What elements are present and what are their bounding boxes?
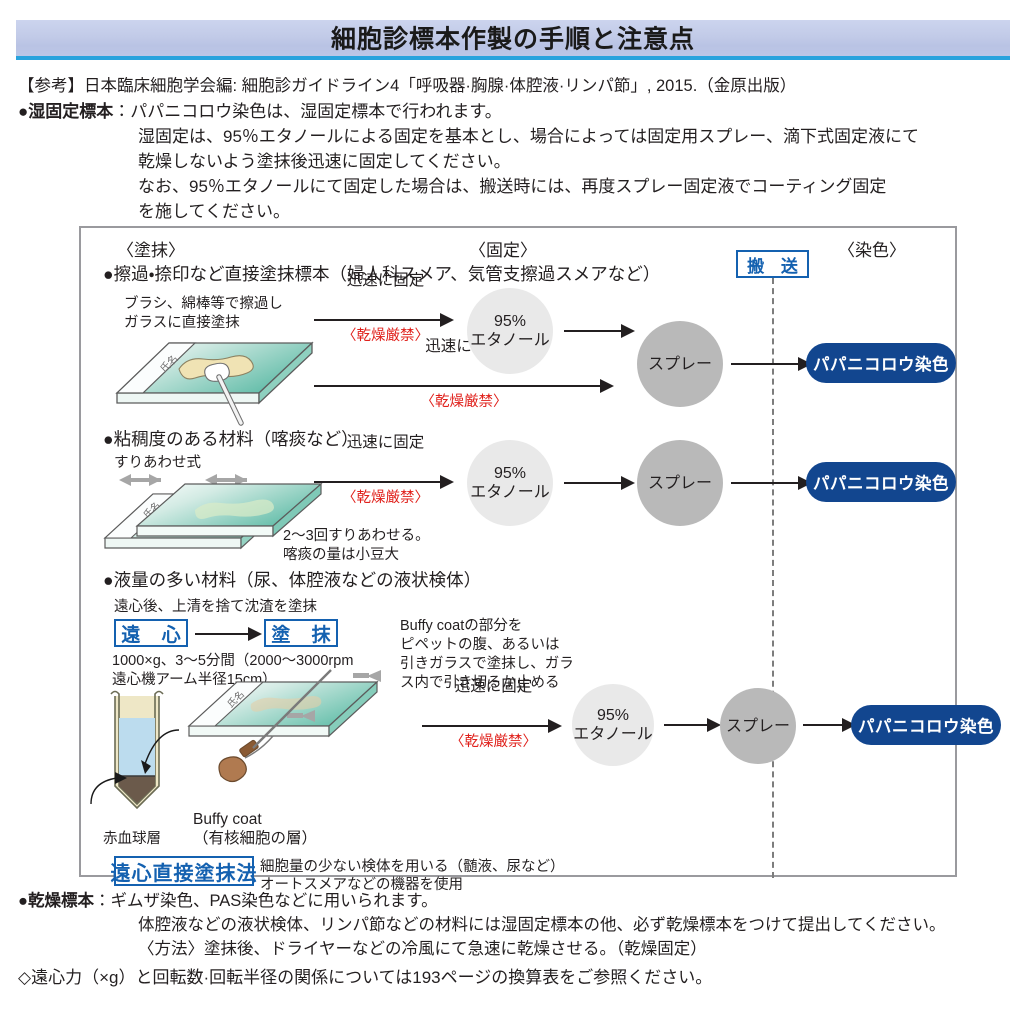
row-3-ethanol-line-1: 95%: [573, 706, 653, 725]
method-note-line-1: 細胞量の少ない検体を用いる（髄液、尿など）: [260, 858, 565, 877]
wet-specimen-text-1: パパニコロウ染色は、湿固定標本で行われます。: [130, 102, 501, 121]
row-3-buffy-label: Buffy coat （有核細胞の層）: [193, 810, 317, 848]
row-1-caption-line-1: ブラシ、綿棒等で擦過し: [124, 295, 283, 314]
row-1-spray-to-stain-arrow: [731, 363, 799, 365]
row-3-rbc-label: 赤血球層: [103, 830, 161, 849]
column-header-smear: 〈塗抹〉: [117, 236, 185, 261]
row-1-spray-circle: スプレー: [637, 321, 723, 407]
row-3-arrow-caution: 〈乾燥厳禁〉: [422, 730, 565, 751]
row-3-stain-pill: パパニコロウ染色: [851, 705, 1001, 745]
document-page: 細胞診標本作製の手順と注意点 【参考】日本臨床細胞学会編: 細胞診ガイドライン4…: [0, 0, 1031, 1010]
row-1-slide-illustration: 氏名: [107, 331, 327, 431]
dry-specimen-text-1: ギムザ染色、PAS染色などに用いられます。: [110, 892, 437, 910]
wet-specimen-line-1: ●湿固定標本：パパニコロウ染色は、湿固定標本で行われます。: [18, 99, 919, 124]
row-2-ethanol-line-2: エタノール: [470, 483, 550, 502]
page-title: 細胞診標本作製の手順と注意点: [16, 19, 1010, 55]
centrifuge-to-smear-arrow: [195, 633, 249, 635]
wet-specimen-line-5: を施してください。: [18, 199, 919, 224]
row-3-spray-circle: スプレー: [720, 688, 796, 764]
row-1-ethanol-to-spray-arrow: [564, 330, 622, 332]
dry-specimen-label: 乾燥標本: [28, 892, 94, 910]
row-3-arrow-label: 迅速に固定: [422, 674, 565, 696]
row-3-buffy-line-1: Buffy coatの部分を: [400, 617, 522, 636]
column-header-fixation: 〈固定〉: [469, 236, 537, 261]
reference-line: 【参考】日本臨床細胞学会編: 細胞診ガイドライン4「呼吸器·胸腺·体腔液·リンパ…: [18, 72, 796, 96]
centrifuge-box: 遠 心: [114, 619, 188, 647]
row-3-ethanol-to-spray-arrow: [664, 724, 708, 726]
row-1-ethanol-line-2: エタノール: [470, 331, 550, 350]
dry-specimen-block: ●乾燥標本：ギムザ染色、PAS染色などに用いられます。 体腔液などの液状検体、リ…: [18, 889, 946, 961]
dry-specimen-line-1: ●乾燥標本：ギムザ染色、PAS染色などに用いられます。: [18, 889, 946, 913]
footnote: ◇遠心力（×g）と回転数·回転半径の関係については193ページの換算表をご参照く…: [18, 963, 712, 988]
row-1-lower-arrow-label: 迅速に固定: [314, 334, 614, 356]
row-2-note-line-1: 2〜3回すりあわせる。: [283, 527, 430, 546]
row-3-buffy-line-3: 引きガラスで塗抹し、ガラ: [400, 655, 574, 674]
wet-specimen-line-2: 湿固定は、95％エタノールによる固定を基本とし、場合によっては固定用スプレー、滴…: [18, 124, 919, 149]
row-2-stain-pill: パパニコロウ染色: [806, 462, 956, 502]
row-2-ethanol-line-1: 95%: [470, 464, 550, 483]
wet-specimen-line-4: なお、95％エタノールにて固定した場合は、搬送時には、再度スプレー固定液でコーテ…: [18, 174, 919, 199]
wet-specimen-label: 湿固定標本: [28, 102, 113, 121]
smear-box: 塗 抹: [264, 619, 338, 647]
transport-box: 搬 送: [736, 250, 809, 278]
wet-specimen-line-3: 乾燥しないよう塗抹後迅速に固定してください。: [18, 149, 919, 174]
row-3-caption-line-1: 遠心後、上清を捨て沈渣を塗抹: [114, 598, 317, 617]
dry-specimen-colon: ：: [94, 892, 111, 910]
column-header-staining: 〈染色〉: [838, 236, 906, 261]
page-title-bar: 細胞診標本作製の手順と注意点: [16, 20, 1010, 60]
row-3-ethanol-circle: 95% エタノール: [572, 684, 654, 766]
dry-specimen-line-2: 体腔液などの液状検体、リンパ節などの材料には湿固定標本の他、必ず乾燥標本をつけて…: [18, 913, 946, 937]
row-3-buffy-label-line-1: Buffy coat: [193, 810, 317, 829]
wet-specimen-bullet: ●: [18, 102, 28, 121]
row-2-ethanol-to-spray-arrow: [564, 482, 622, 484]
direct-smear-method-box: 遠心直接塗抹法: [114, 856, 254, 886]
row-3-buffy-label-line-2: （有核細胞の層）: [193, 829, 317, 848]
wet-specimen-block: ●湿固定標本：パパニコロウ染色は、湿固定標本で行われます。 湿固定は、95％エタ…: [18, 99, 919, 224]
row-1-ethanol-line-1: 95%: [470, 312, 550, 331]
transport-divider-line: [772, 278, 774, 878]
row-3-pipette-slide-illustration: 氏名: [181, 668, 411, 798]
row-3-spray-to-stain-arrow: [803, 724, 843, 726]
row-2-arrow-label: 迅速に固定: [314, 430, 457, 452]
row-3-ethanol-line-2: エタノール: [573, 725, 653, 744]
wet-specimen-colon: ：: [113, 102, 130, 121]
row-1-lower-arrow-caution: 〈乾燥厳禁〉: [314, 390, 614, 411]
dry-specimen-line-3: 〈方法〉塗抹後、ドライヤーなどの冷風にて急速に乾燥させる。（乾燥固定）: [18, 937, 946, 961]
row-2-arrow-caution: 〈乾燥厳禁〉: [314, 486, 457, 507]
row-3-centrifuge-tube-illustration: [87, 688, 207, 828]
row-2-note-line-2: 喀痰の量は小豆大: [283, 546, 399, 565]
row-1-upper-arrow-label: 迅速に固定: [314, 268, 457, 290]
workflow-diagram: 〈塗抹〉 〈固定〉 〈染色〉 搬 送 ●擦過・捺印など直接塗抹標本（婦人科スメア…: [79, 226, 957, 877]
row-3-heading: ●液量の多い材料（尿、体腔液などの液状検体）: [103, 567, 481, 592]
dry-specimen-bullet: ●: [18, 892, 28, 910]
row-2-spray-circle: スプレー: [637, 440, 723, 526]
row-2-spray-to-stain-arrow: [731, 482, 799, 484]
row-3-buffy-line-2: ピペットの腹、あるいは: [400, 636, 560, 655]
row-2-ethanol-circle: 95% エタノール: [467, 440, 553, 526]
row-1-stain-pill: パパニコロウ染色: [806, 343, 956, 383]
row-1-ethanol-circle: 95% エタノール: [467, 288, 553, 374]
